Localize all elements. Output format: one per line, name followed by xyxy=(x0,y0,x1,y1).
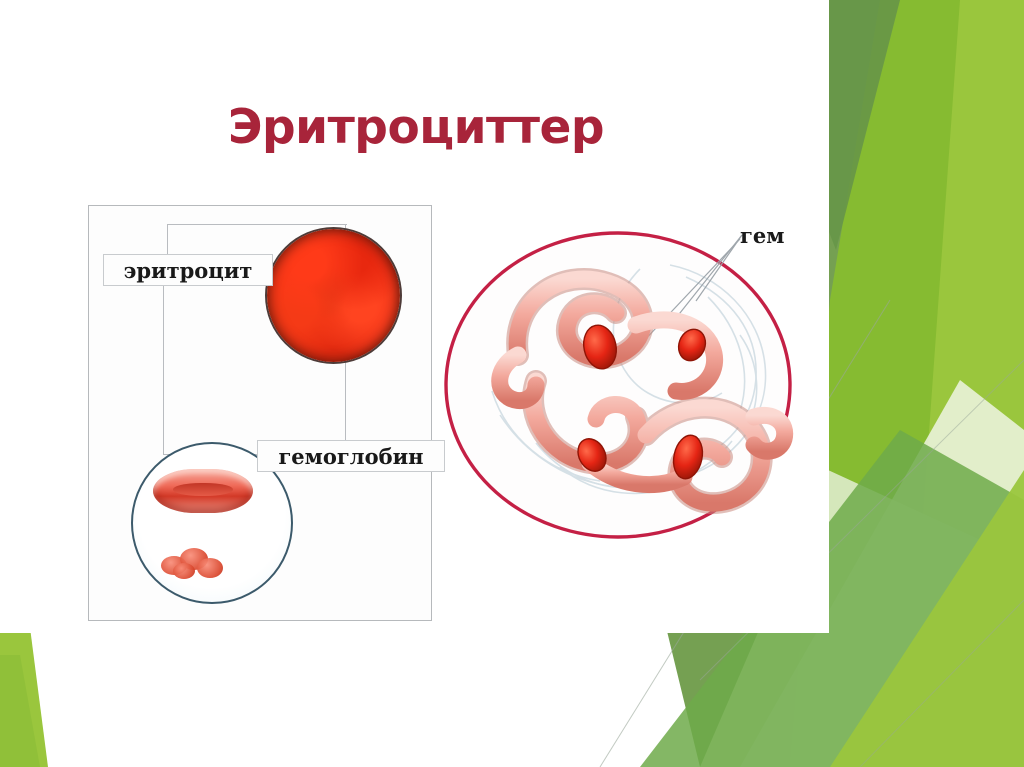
red-blood-cell-cluster-image xyxy=(267,229,400,362)
slide-canvas: Эритроциттер эритроцит гемоглобин xyxy=(0,0,1024,767)
facet-hairline-3 xyxy=(860,600,1024,767)
leader-line-erythrocyte-vertical xyxy=(163,284,164,454)
facet-shape-left-wedge-2 xyxy=(0,655,40,767)
label-hemoglobin: гемоглобин xyxy=(257,440,445,472)
label-heme: гем xyxy=(740,223,784,248)
erythrocyte-diagram: эритроцит гемоглобин xyxy=(88,205,432,621)
heme-blob-4 xyxy=(173,563,195,579)
heme-blob-3 xyxy=(197,558,223,578)
label-erythrocyte: эритроцит xyxy=(103,254,273,286)
biconcave-erythrocyte-shape xyxy=(153,469,253,513)
facet-shape-left-wedge xyxy=(0,612,48,767)
hemoglobin-molecule-diagram: гем xyxy=(440,205,820,565)
hemoglobin-molecule-illustration xyxy=(440,205,820,565)
leader-line-top-horizontal xyxy=(167,224,347,225)
facet-shape-lime-strip xyxy=(905,0,1024,767)
heme-group-cluster xyxy=(161,548,231,581)
page-title: Эритроциттер xyxy=(228,103,688,152)
facet-shape-bright-lower xyxy=(830,470,1024,767)
